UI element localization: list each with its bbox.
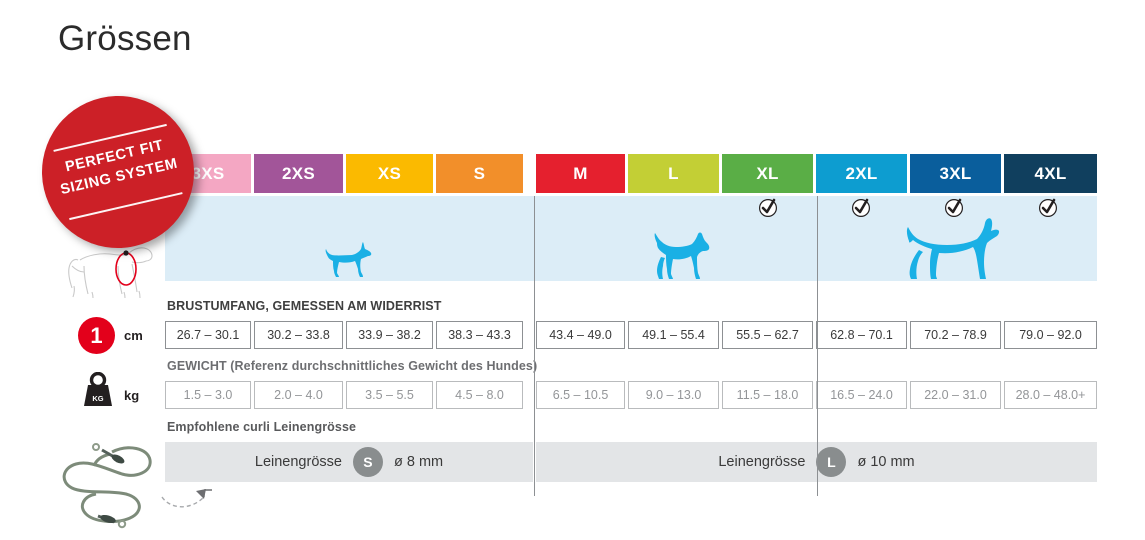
svg-text:KG: KG [92, 394, 103, 403]
leash-diameter-label: ø 10 mm [857, 454, 914, 470]
leash-size-bar-s: LeinengrösseSø 8 mm [165, 442, 533, 482]
weight-value-cell: 22.0 – 31.0 [910, 381, 1001, 409]
kg-unit-label: kg [124, 388, 139, 403]
weight-value-cell: 28.0 – 48.0+ [1004, 381, 1097, 409]
leash-size-circle: S [353, 447, 383, 477]
checkmark-icon-xl [758, 198, 778, 218]
leash-diameter-label: ø 8 mm [394, 454, 443, 470]
dog-silhouette-medium [652, 231, 712, 280]
size-header-l[interactable]: L [628, 154, 719, 193]
weight-value-cell: 6.5 – 10.5 [536, 381, 625, 409]
weight-values-row: 1.5 – 3.02.0 – 4.03.5 – 5.54.5 – 8.06.5 … [165, 381, 1097, 409]
chest-heading: BRUSTUMFANG, GEMESSEN AM WIDERRIST [167, 299, 441, 313]
size-chart-page: Grössen PERFECT FIT SIZING SYSTEM 1 1 cm [0, 0, 1145, 540]
size-header-4xl[interactable]: 4XL [1004, 154, 1097, 193]
checkmark-icon-2xl [851, 198, 871, 218]
page-title: Grössen [58, 18, 192, 60]
size-header-2xl[interactable]: 2XL [816, 154, 907, 193]
size-header-3xl[interactable]: 3XL [910, 154, 1001, 193]
step-number-badge: 1 [78, 317, 115, 354]
checkmark-icon-4xl [1038, 198, 1058, 218]
chest-value-cell: 30.2 – 33.8 [254, 321, 343, 349]
chest-value-cell: 38.3 – 43.3 [436, 321, 523, 349]
size-header-xs[interactable]: XS [346, 154, 433, 193]
chest-value-cell: 49.1 – 55.4 [628, 321, 719, 349]
leash-size-label: Leinengrösse [255, 454, 342, 470]
weight-value-cell: 1.5 – 3.0 [165, 381, 251, 409]
size-header-m[interactable]: M [536, 154, 625, 193]
weight-kg-icon: KG [78, 372, 118, 408]
chest-value-cell: 62.8 – 70.1 [816, 321, 907, 349]
weight-heading: GEWICHT (Referenz durchschnittliches Gew… [167, 359, 537, 373]
leash-size-circle: L [816, 447, 846, 477]
weight-value-cell: 4.5 – 8.0 [436, 381, 523, 409]
size-header-xl[interactable]: XL [722, 154, 813, 193]
weight-value-cell: 3.5 – 5.5 [346, 381, 433, 409]
weight-value-cell: 16.5 – 24.0 [816, 381, 907, 409]
section-divider-xl-2xl [817, 196, 818, 496]
dog-silhouette-small [322, 241, 374, 279]
chest-value-cell: 33.9 – 38.2 [346, 321, 433, 349]
checkmark-icon-3xl [944, 198, 964, 218]
chest-values-row: 26.7 – 30.130.2 – 33.833.9 – 38.238.3 – … [165, 321, 1097, 349]
chest-value-cell: 43.4 – 49.0 [536, 321, 625, 349]
chest-value-cell: 70.2 – 78.9 [910, 321, 1001, 349]
chest-value-cell: 79.0 – 92.0 [1004, 321, 1097, 349]
leash-product-image [50, 438, 180, 530]
dog-silhouette-large [905, 217, 1001, 281]
size-header-s[interactable]: S [436, 154, 523, 193]
weight-value-cell: 11.5 – 18.0 [722, 381, 813, 409]
leash-heading: Empfohlene curli Leinengrösse [167, 420, 356, 434]
leash-size-label: Leinengrösse [718, 454, 805, 470]
size-header-2xs[interactable]: 2XS [254, 154, 343, 193]
chest-value-cell: 26.7 – 30.1 [165, 321, 251, 349]
expand-arrow-icon [160, 487, 220, 513]
weight-value-cell: 2.0 – 4.0 [254, 381, 343, 409]
size-header-row: 3XS2XSXSSMLXL2XL3XL4XL [165, 154, 1097, 193]
chest-value-cell: 55.5 – 62.7 [722, 321, 813, 349]
weight-value-cell: 9.0 – 13.0 [628, 381, 719, 409]
cm-unit-label: cm [124, 328, 143, 343]
badge-rule-bottom [69, 192, 182, 220]
section-divider-s-m [534, 196, 535, 496]
